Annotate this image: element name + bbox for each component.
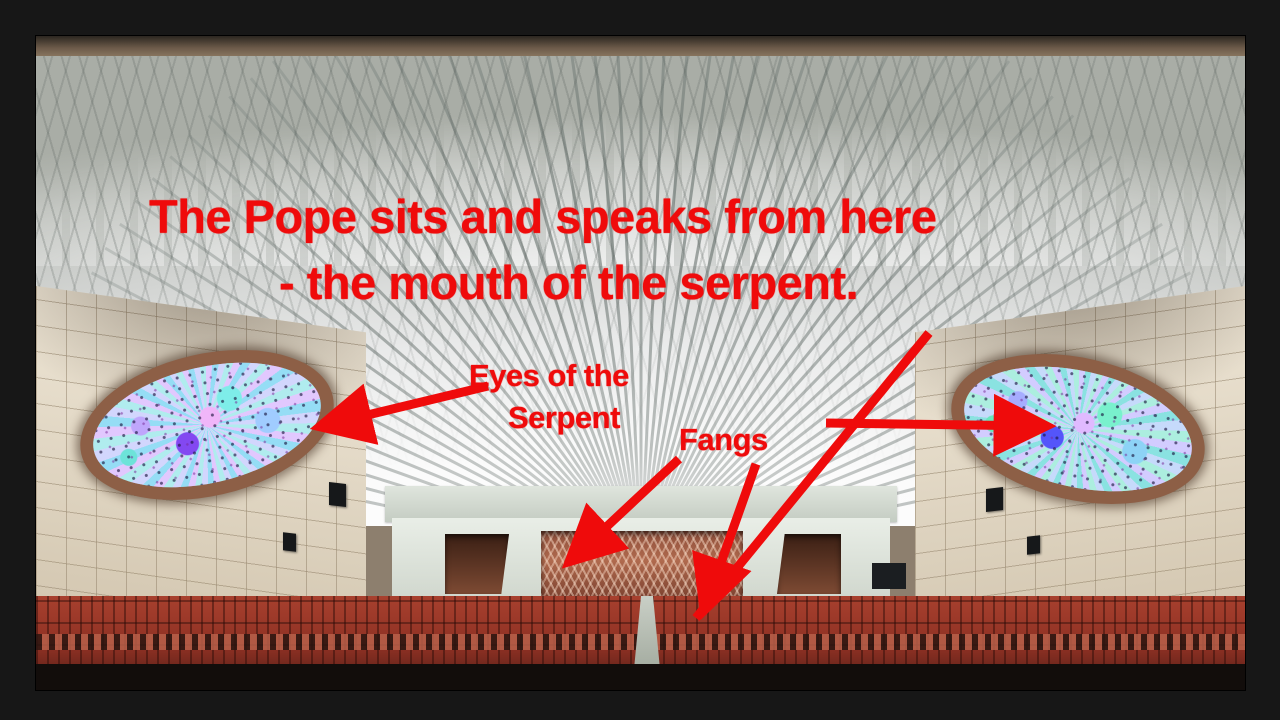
- central-sculpture: [541, 531, 743, 597]
- wall-speaker: [986, 487, 1003, 512]
- wall-speaker: [329, 482, 346, 507]
- stage-lip: [385, 486, 897, 522]
- wall-speaker: [283, 532, 296, 552]
- stage-niche-right: [777, 534, 841, 594]
- foreground-shadow: [36, 664, 1245, 690]
- outer-frame: The Pope sits and speaks from here - the…: [0, 0, 1280, 720]
- audience-hall-photo: The Pope sits and speaks from here - the…: [36, 36, 1245, 690]
- stage-niche-left: [445, 534, 509, 594]
- stage-monitor: [872, 563, 906, 589]
- upper-wall-strip: [36, 36, 1245, 58]
- wall-speaker: [1027, 535, 1040, 555]
